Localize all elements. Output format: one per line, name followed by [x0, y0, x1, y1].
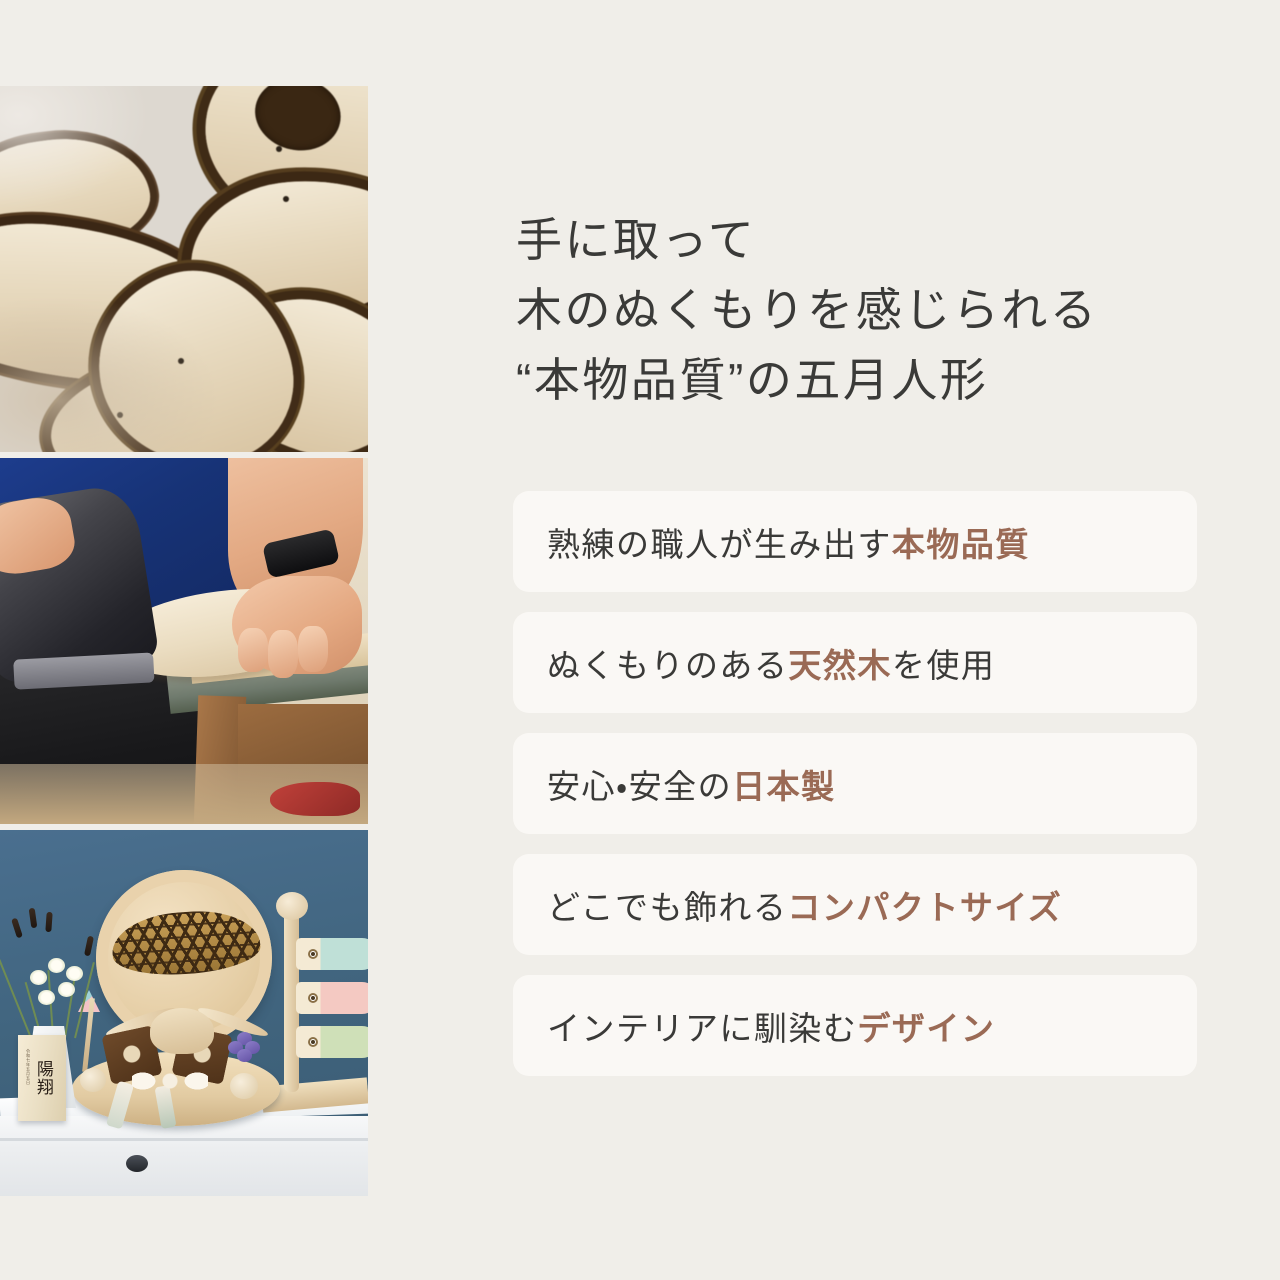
- koinobori-flag: [296, 1026, 368, 1058]
- feature-plain-before: 安心・安全の: [547, 768, 732, 805]
- feature-card-natural-wood[interactable]: ぬくもりのある天然木を使用: [513, 612, 1197, 713]
- iris-base-ball: [230, 1073, 258, 1099]
- feature-text: どこでも飾れるコンパクトサイズ: [547, 881, 1062, 929]
- page-title: 手に取って 木のぬくもりを感じられる “本物品質”の五月人形: [516, 206, 1098, 416]
- headline-line-1: 手に取って: [516, 206, 1098, 276]
- feature-plain-after: を使用: [892, 647, 995, 684]
- flower-bloom: [66, 966, 83, 981]
- promo-page: 令和七年五月五日 陽翔 手に取って 木のぬくもりを感じられる “本物品質”の五月…: [0, 0, 1280, 1280]
- white-cabinet: [0, 1116, 368, 1196]
- feature-card-compact-size[interactable]: どこでも飾れるコンパクトサイズ: [513, 854, 1197, 955]
- wood-peg-hole: [283, 196, 289, 202]
- flower-bloom: [58, 982, 75, 997]
- feature-card-quality[interactable]: 熟練の職人が生み出す本物品質: [513, 491, 1197, 592]
- koinobori-flag: [296, 938, 368, 970]
- finger: [268, 630, 298, 678]
- feature-text: インテリアに馴染むデザイン: [547, 1002, 995, 1050]
- headline-line-3: “本物品質”の五月人形: [516, 346, 1098, 416]
- feature-text: 熟練の職人が生み出す本物品質: [547, 518, 1030, 566]
- feature-plain-before: どこでも飾れる: [547, 889, 787, 926]
- kabuto-helmet: [150, 1008, 214, 1054]
- plaque-name: 陽翔: [33, 1060, 51, 1096]
- feature-list: 熟練の職人が生み出す本物品質 ぬくもりのある天然木を使用 安心・安全の日本製 ど…: [513, 491, 1197, 1076]
- photo1-scene: [0, 86, 368, 452]
- feature-plain-before: ぬくもりのある: [547, 647, 788, 684]
- plaque-subtext: 令和七年五月五日: [25, 1049, 31, 1085]
- wood-peg-hole: [117, 412, 123, 418]
- finger: [298, 626, 328, 672]
- feature-plain-before: インテリアに馴染む: [547, 1010, 857, 1047]
- iris-ornament: [228, 1032, 262, 1076]
- feature-plain-before: 熟練の職人が生み出す: [547, 526, 892, 563]
- kabuto-cord-bow: [132, 1068, 208, 1094]
- feature-accent: 日本製: [732, 768, 835, 805]
- koinobori-flag: [296, 982, 368, 1014]
- content-column: 手に取って 木のぬくもりを感じられる “本物品質”の五月人形 熟練の職人が生み出…: [513, 0, 1197, 1280]
- feature-accent: 天然木: [788, 647, 891, 684]
- flower-bloom: [30, 970, 47, 985]
- carved-wood-pieces-photo: [0, 86, 368, 452]
- feature-card-design[interactable]: インテリアに馴染むデザイン: [513, 975, 1197, 1076]
- feature-accent: デザイン: [857, 1010, 995, 1047]
- feature-text: ぬくもりのある天然木を使用: [547, 639, 995, 687]
- arrow-base-ball: [80, 1068, 106, 1092]
- headline-line-2: 木のぬくもりを感じられる: [516, 276, 1098, 346]
- flower-bloom: [38, 990, 55, 1005]
- wood-peg-hole: [178, 358, 184, 364]
- floor-object: [270, 782, 360, 816]
- feature-accent: 本物品質: [892, 526, 1030, 563]
- craftsman-sanding-photo: [0, 458, 368, 824]
- wood-peg-hole: [276, 146, 282, 152]
- kabuto-display-photo: 令和七年五月五日 陽翔: [0, 830, 368, 1196]
- photo-column: 令和七年五月五日 陽翔: [0, 86, 368, 1196]
- feature-text: 安心・安全の日本製: [547, 760, 836, 808]
- koinobori-pole-cap: [276, 892, 308, 920]
- feature-accent: コンパクトサイズ: [787, 889, 1062, 926]
- cabinet-knob: [126, 1155, 148, 1172]
- feature-card-made-in-japan[interactable]: 安心・安全の日本製: [513, 733, 1197, 834]
- flower-bloom: [48, 958, 65, 973]
- finger: [238, 628, 268, 672]
- name-plaque: 令和七年五月五日 陽翔: [18, 1035, 66, 1121]
